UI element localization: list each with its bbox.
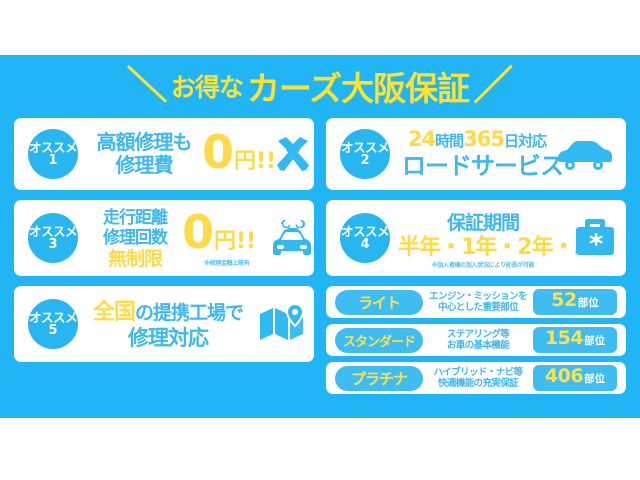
toolcase-icon — [570, 213, 620, 265]
headline-small-text: お得な — [171, 68, 243, 104]
badge-number: 2 — [360, 154, 369, 168]
badge-number: 1 — [48, 154, 57, 168]
feature-card-4: オススメ 4 保証期間 半年・1年・2年・3年 ※加入者様の加入状況により延長が… — [326, 200, 626, 276]
card-1-amount-number: 0 — [202, 125, 234, 179]
card-1-line-2: 修理費 — [88, 154, 200, 177]
car-side-icon — [554, 136, 614, 176]
card-3-amount-number: 0 — [182, 205, 214, 259]
badge-label: オススメ — [29, 311, 77, 324]
plan-count-unit: 部位 — [584, 371, 605, 386]
feature-card-2: オススメ 2 24時間365日対応 ロードサービス — [326, 118, 626, 190]
plan-count-box: 52部位 — [533, 289, 617, 315]
card-5-line-2: 修理対応 — [90, 326, 246, 351]
badge-number: 3 — [48, 238, 57, 252]
badge-label: オススメ — [29, 225, 77, 238]
card-4-text: 保証期間 半年・1年・2年・3年 — [398, 212, 568, 261]
plan-name-pill: プラチナ — [335, 366, 423, 391]
recommend-badge-4: オススメ 4 — [340, 213, 390, 263]
card-4-line-1: 保証期間 — [398, 212, 568, 235]
map-pin-icon — [256, 300, 310, 352]
badge-label: オススメ — [341, 141, 389, 154]
card-1-amount: 0円!! — [202, 126, 276, 178]
card-3-amount: 0円!! — [182, 206, 256, 258]
plan-description: ステアリング等 お車の基本機能 — [423, 329, 533, 351]
page-title: ＼ お得な カーズ大阪保証 ／ — [0, 62, 640, 110]
card-3-amount-unit: 円!! — [214, 229, 256, 254]
plan-count-number: 406 — [545, 365, 583, 387]
plan-desc-line-1: エンジン・ミッションを — [425, 291, 531, 302]
card-5-text: 全国の提携工場で 修理対応 — [90, 300, 246, 351]
slash-left-decoration: ＼ — [126, 65, 167, 106]
plan-count-box: 406部位 — [533, 365, 617, 391]
badge-label: オススメ — [29, 141, 77, 154]
plan-row-light[interactable]: ライト エンジン・ミッションを 中心とした重要部位 52部位 — [326, 286, 626, 318]
badge-label: オススメ — [341, 225, 389, 238]
feature-card-3: オススメ 3 走行距離 修理回数 無制限 0円!! ※修理金額上限有 — [14, 200, 314, 276]
plan-count-unit: 部位 — [584, 333, 605, 348]
badge-number: 5 — [48, 324, 57, 338]
slash-right-decoration: ／ — [473, 66, 513, 106]
plan-desc-line-2: お車の基本機能 — [425, 340, 531, 351]
recommend-badge-3: オススメ 3 — [28, 213, 78, 263]
plan-row-standard[interactable]: スタンダード ステアリング等 お車の基本機能 154部位 — [326, 324, 626, 356]
card-2-hours-number: 24 — [408, 127, 435, 151]
plan-description: ハイブリッド・ナビ等 快適機能の充実保証 — [423, 367, 533, 389]
plan-desc-line-1: ハイブリッド・ナビ等 — [425, 367, 531, 378]
card-5-highlight: 全国 — [93, 300, 135, 325]
card-2-days-number: 365 — [463, 127, 504, 151]
card-1-line-1: 高額修理も — [88, 131, 200, 154]
card-4-line-2: 半年・1年・2年・3年 — [398, 235, 568, 261]
plan-description: エンジン・ミッションを 中心とした重要部位 — [423, 291, 533, 313]
card-3-line-2: 修理回数 — [92, 228, 178, 248]
card-5-line-1: 全国の提携工場で — [90, 300, 246, 326]
recommend-badge-5: オススメ 5 — [28, 299, 78, 349]
card-2-hours-unit: 時間 — [435, 132, 463, 150]
plan-count-box: 154部位 — [533, 327, 617, 353]
headline-big-text: カーズ大阪保証 — [247, 62, 469, 110]
car-wrench-icon — [266, 212, 318, 268]
card-3-text: 走行距離 修理回数 無制限 — [92, 208, 178, 270]
plan-name-pill: ライト — [335, 290, 423, 315]
badge-number: 4 — [360, 238, 369, 252]
plan-desc-line-2: 中心とした重要部位 — [425, 302, 531, 313]
advertisement-poster: ＼ お得な カーズ大阪保証 ／ オススメ 1 高額修理も 修理費 0円!! — [0, 0, 640, 480]
plan-row-platinum[interactable]: プラチナ ハイブリッド・ナビ等 快適機能の充実保証 406部位 — [326, 362, 626, 394]
card-5-line-1-rest: の提携工場で — [135, 302, 243, 324]
recommend-badge-2: オススメ 2 — [340, 129, 390, 179]
plan-count-number: 154 — [545, 327, 583, 349]
plan-name-pill: スタンダード — [335, 328, 423, 353]
card-2-text: 24時間365日対応 ロードサービス — [402, 128, 552, 180]
recommend-badge-1: オススメ 1 — [28, 129, 78, 179]
feature-card-5: オススメ 5 全国の提携工場で 修理対応 — [14, 286, 314, 362]
plan-desc-line-2: 快適機能の充実保証 — [425, 378, 531, 389]
card-2-days-unit: 日対応 — [504, 132, 546, 150]
plan-count-number: 52 — [551, 289, 576, 311]
card-3-line-1: 走行距離 — [92, 208, 178, 228]
feature-card-1: オススメ 1 高額修理も 修理費 0円!! — [14, 118, 314, 190]
card-4-disclaimer: ※加入者様の加入状況により延長が可能 — [396, 260, 570, 269]
plan-count-unit: 部位 — [578, 295, 599, 310]
card-2-line-2: ロードサービス — [402, 152, 552, 180]
card-2-line-1: 24時間365日対応 — [402, 128, 552, 152]
plan-desc-line-1: ステアリング等 — [425, 329, 531, 340]
crossed-hammers-icon — [270, 132, 316, 182]
card-1-text: 高額修理も 修理費 — [88, 131, 200, 177]
card-3-disclaimer: ※修理金額上限有 — [204, 258, 249, 267]
card-3-line-3: 無制限 — [92, 248, 178, 270]
